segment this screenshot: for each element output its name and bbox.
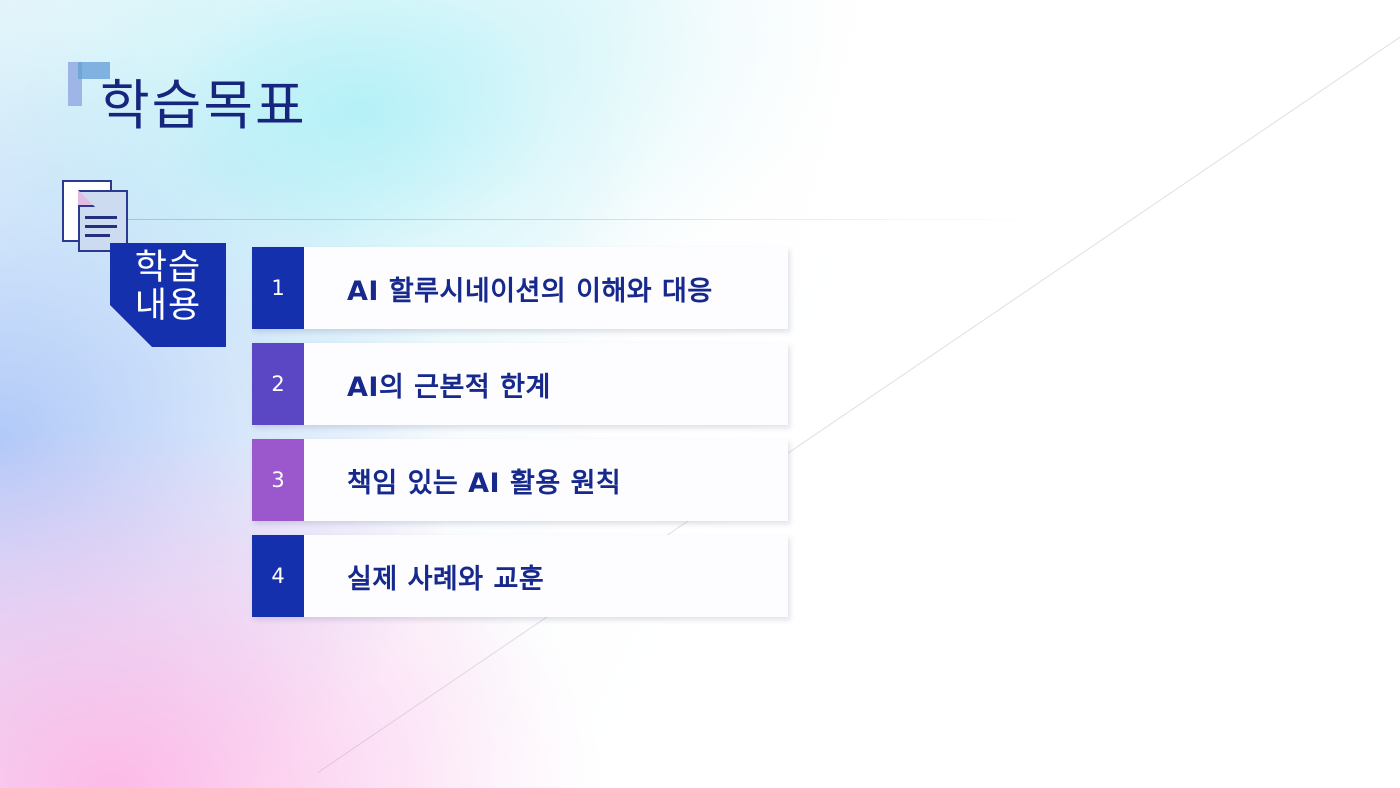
corner-mark-joint — [78, 62, 82, 79]
document-text-line — [85, 216, 117, 219]
banner-label-line2: 내용 — [135, 288, 201, 326]
document-text-line — [85, 225, 117, 228]
list-item[interactable]: 4 실제 사례와 교훈 — [252, 535, 788, 617]
section-banner: 학습 내용 — [110, 243, 226, 347]
list-item[interactable]: 1 AI 할루시네이션의 이해와 대응 — [252, 247, 788, 329]
list-item-number-badge: 3 — [252, 439, 304, 521]
list-item-label: 실제 사례와 교훈 — [304, 535, 788, 617]
slide-canvas: 학습목표 학습 내용 1 AI 할루시네이션의 이해와 대응 2 AI의 근본적… — [0, 0, 1400, 788]
content-list: 1 AI 할루시네이션의 이해와 대응 2 AI의 근본적 한계 3 책임 있는… — [252, 247, 788, 631]
list-item-label: AI의 근본적 한계 — [304, 343, 788, 425]
list-item-number-badge: 1 — [252, 247, 304, 329]
document-text-line — [85, 234, 110, 237]
documents-icon — [62, 180, 140, 250]
list-item-label: 책임 있는 AI 활용 원칙 — [304, 439, 788, 521]
page-title: 학습목표 — [100, 78, 307, 135]
list-item-number-badge: 2 — [252, 343, 304, 425]
list-item-label: AI 할루시네이션의 이해와 대응 — [304, 247, 788, 329]
title-divider — [126, 219, 1046, 220]
list-item-number-badge: 4 — [252, 535, 304, 617]
banner-label-line1: 학습 — [135, 250, 201, 288]
list-item[interactable]: 3 책임 있는 AI 활용 원칙 — [252, 439, 788, 521]
list-item[interactable]: 2 AI의 근본적 한계 — [252, 343, 788, 425]
